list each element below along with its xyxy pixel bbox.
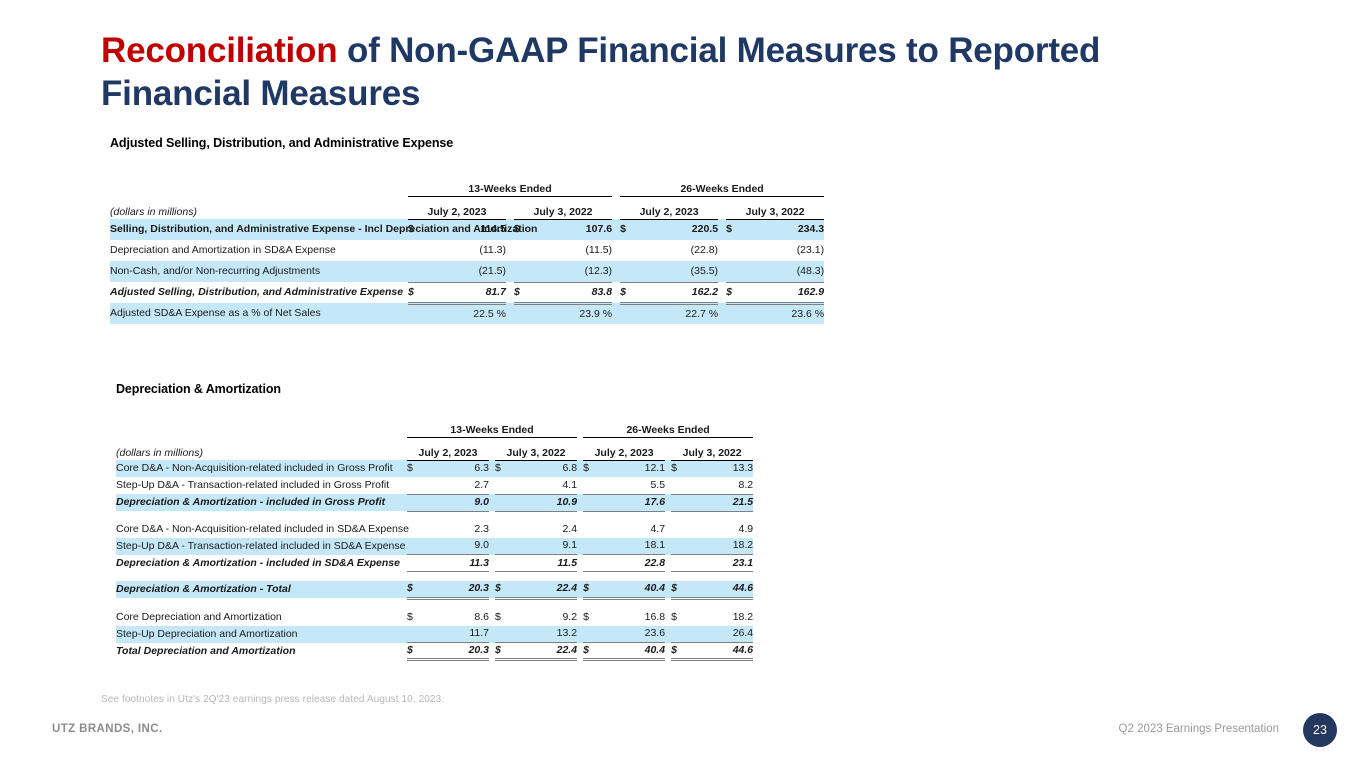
value-cell: 22.8	[597, 555, 665, 572]
column-header: July 3, 2022	[495, 447, 577, 460]
value-cell: 8.6	[421, 609, 489, 626]
units-label: (dollars in millions)	[110, 206, 400, 219]
currency-symbol: $	[671, 609, 685, 626]
value-cell: 9.0	[421, 538, 489, 555]
currency-symbol: $	[495, 609, 509, 626]
footnote: See footnotes in Utz's 2Q'23 earnings pr…	[101, 694, 444, 705]
value-cell: 107.6	[530, 219, 612, 240]
currency-symbol	[620, 261, 636, 282]
currency-symbol	[583, 626, 597, 643]
value-cell: 2.4	[509, 521, 577, 538]
value-cell: 22.5 %	[424, 303, 506, 324]
row-label: Adjusted SD&A Expense as a % of Net Sale…	[110, 303, 400, 324]
value-cell: (21.5)	[424, 261, 506, 282]
table-row: Step-Up D&A - Transaction-related includ…	[116, 538, 753, 555]
currency-symbol	[671, 538, 685, 555]
value-cell: 18.2	[685, 538, 753, 555]
row-label: Adjusted Selling, Distribution, and Admi…	[110, 282, 400, 303]
value-cell: 4.9	[685, 521, 753, 538]
value-cell: 23.9 %	[530, 303, 612, 324]
value-cell: 20.3	[421, 581, 489, 598]
value-cell: 4.1	[509, 477, 577, 494]
page-number-badge: 23	[1303, 713, 1337, 747]
value-cell: 9.2	[509, 609, 577, 626]
row-label: Core D&A - Non-Acquisition-related inclu…	[116, 521, 401, 538]
currency-symbol	[495, 477, 509, 494]
value-cell: 8.2	[685, 477, 753, 494]
currency-symbol: $	[583, 643, 597, 660]
currency-symbol	[583, 477, 597, 494]
slide: Reconciliation of Non-GAAP Financial Mea…	[0, 0, 1365, 768]
value-cell: (11.3)	[424, 240, 506, 261]
value-cell: 44.6	[685, 581, 753, 598]
value-cell: 23.6 %	[742, 303, 824, 324]
currency-symbol	[407, 477, 421, 494]
value-cell: 83.8	[530, 282, 612, 303]
currency-symbol	[514, 240, 530, 261]
value-cell: 234.3	[742, 219, 824, 240]
currency-symbol: $	[583, 609, 597, 626]
column-header: July 2, 2023	[407, 447, 489, 460]
currency-symbol: $	[495, 581, 509, 598]
currency-symbol: $	[671, 460, 685, 477]
table-row: Step-Up D&A - Transaction-related includ…	[116, 477, 753, 494]
value-cell: 21.5	[685, 494, 753, 511]
value-cell: 6.8	[509, 460, 577, 477]
depreciation-amortization-table: 13-Weeks Ended26-Weeks Ended(dollars in …	[116, 424, 753, 661]
row-label: Selling, Distribution, and Administrativ…	[110, 219, 400, 240]
currency-symbol	[671, 626, 685, 643]
value-cell: 11.5	[509, 555, 577, 572]
row-label: Core D&A - Non-Acquisition-related inclu…	[116, 460, 401, 477]
section2-caption: Depreciation & Amortization	[116, 382, 281, 396]
value-cell: 5.5	[597, 477, 665, 494]
row-label: Step-Up D&A - Transaction-related includ…	[116, 477, 401, 494]
row-label: Core Depreciation and Amortization	[116, 609, 401, 626]
column-header: July 2, 2023	[583, 447, 665, 460]
currency-symbol: $	[583, 460, 597, 477]
page-title-highlight: Reconciliation	[101, 31, 337, 70]
currency-symbol: $	[726, 219, 742, 240]
value-cell: 2.7	[421, 477, 489, 494]
table-row: Core D&A - Non-Acquisition-related inclu…	[116, 521, 753, 538]
currency-symbol	[514, 261, 530, 282]
group-header-26-weeks: 26-Weeks Ended	[583, 424, 753, 437]
table-row: Depreciation & Amortization - included i…	[116, 555, 753, 572]
table-row: Selling, Distribution, and Administrativ…	[110, 219, 824, 240]
group-header-13-weeks: 13-Weeks Ended	[408, 183, 612, 196]
column-header: July 3, 2022	[726, 206, 824, 219]
row-label: Depreciation & Amortization - included i…	[116, 494, 401, 511]
value-cell: 22.4	[509, 581, 577, 598]
currency-symbol	[408, 261, 424, 282]
currency-symbol	[495, 494, 509, 511]
value-cell: 10.9	[509, 494, 577, 511]
currency-symbol	[495, 626, 509, 643]
currency-symbol	[495, 521, 509, 538]
value-cell: 11.7	[421, 626, 489, 643]
value-cell: 9.1	[509, 538, 577, 555]
currency-symbol	[495, 538, 509, 555]
currency-symbol	[408, 303, 424, 324]
table-column-header-row: (dollars in millions)July 2, 2023July 3,…	[110, 206, 824, 219]
table-row: Depreciation & Amortization - included i…	[116, 494, 753, 511]
row-label: Total Depreciation and Amortization	[116, 643, 401, 660]
footer-deck-name: Q2 2023 Earnings Presentation	[1119, 723, 1279, 735]
page-title: Reconciliation of Non-GAAP Financial Mea…	[101, 30, 1101, 115]
currency-symbol: $	[671, 581, 685, 598]
currency-symbol	[408, 240, 424, 261]
value-cell: 22.4	[509, 643, 577, 660]
value-cell: 17.6	[597, 494, 665, 511]
value-cell: 18.2	[685, 609, 753, 626]
currency-symbol	[583, 555, 597, 572]
currency-symbol	[514, 303, 530, 324]
currency-symbol	[407, 626, 421, 643]
value-cell: 40.4	[597, 581, 665, 598]
table-row: Non-Cash, and/or Non-recurring Adjustmen…	[110, 261, 824, 282]
value-cell: (11.5)	[530, 240, 612, 261]
currency-symbol	[671, 521, 685, 538]
currency-symbol	[726, 240, 742, 261]
table-group-header-row: 13-Weeks Ended26-Weeks Ended	[116, 424, 753, 437]
column-header: July 2, 2023	[408, 206, 506, 219]
currency-symbol: $	[407, 643, 421, 660]
currency-symbol	[671, 477, 685, 494]
table-row: Depreciation and Amortization in SD&A Ex…	[110, 240, 824, 261]
currency-symbol: $	[671, 643, 685, 660]
table-row: Depreciation & Amortization - Total$20.3…	[116, 581, 753, 598]
currency-symbol: $	[583, 581, 597, 598]
column-header: July 2, 2023	[620, 206, 718, 219]
currency-symbol	[583, 538, 597, 555]
currency-symbol	[407, 555, 421, 572]
column-header: July 3, 2022	[514, 206, 612, 219]
row-label: Depreciation and Amortization in SD&A Ex…	[110, 240, 400, 261]
table-group-header-row: 13-Weeks Ended26-Weeks Ended	[110, 183, 824, 196]
currency-symbol	[671, 494, 685, 511]
row-label: Step-Up Depreciation and Amortization	[116, 626, 401, 643]
units-label: (dollars in millions)	[116, 447, 401, 460]
currency-symbol: $	[408, 282, 424, 303]
currency-symbol: $	[407, 609, 421, 626]
currency-symbol	[407, 521, 421, 538]
table-row: Total Depreciation and Amortization$20.3…	[116, 643, 753, 660]
value-cell: 4.7	[597, 521, 665, 538]
value-cell: 81.7	[424, 282, 506, 303]
currency-symbol: $	[514, 282, 530, 303]
value-cell: 13.3	[685, 460, 753, 477]
value-cell: 220.5	[636, 219, 718, 240]
value-cell: 9.0	[421, 494, 489, 511]
group-header-26-weeks: 26-Weeks Ended	[620, 183, 824, 196]
footer-company: UTZ BRANDS, INC.	[52, 723, 163, 735]
table-row: Core Depreciation and Amortization$8.6$9…	[116, 609, 753, 626]
value-cell: 162.9	[742, 282, 824, 303]
row-label: Step-Up D&A - Transaction-related includ…	[116, 538, 401, 555]
currency-symbol	[583, 521, 597, 538]
value-cell: 2.3	[421, 521, 489, 538]
row-label: Non-Cash, and/or Non-recurring Adjustmen…	[110, 261, 400, 282]
currency-symbol: $	[407, 460, 421, 477]
group-header-13-weeks: 13-Weeks Ended	[407, 424, 577, 437]
currency-symbol: $	[407, 581, 421, 598]
currency-symbol: $	[495, 643, 509, 660]
currency-symbol	[671, 555, 685, 572]
currency-symbol	[495, 555, 509, 572]
value-cell: 40.4	[597, 643, 665, 660]
value-cell: (48.3)	[742, 261, 824, 282]
value-cell: 23.1	[685, 555, 753, 572]
table-row: Core D&A - Non-Acquisition-related inclu…	[116, 460, 753, 477]
row-label: Depreciation & Amortization - Total	[116, 581, 401, 598]
currency-symbol	[620, 240, 636, 261]
currency-symbol	[726, 261, 742, 282]
value-cell: 23.6	[597, 626, 665, 643]
adjusted-sda-table: 13-Weeks Ended26-Weeks Ended(dollars in …	[110, 183, 824, 324]
currency-symbol	[407, 494, 421, 511]
currency-symbol	[620, 303, 636, 324]
value-cell: 18.1	[597, 538, 665, 555]
currency-symbol: $	[495, 460, 509, 477]
value-cell: 26.4	[685, 626, 753, 643]
table-row: Step-Up Depreciation and Amortization11.…	[116, 626, 753, 643]
table-row: Adjusted Selling, Distribution, and Admi…	[110, 282, 824, 303]
row-label: Depreciation & Amortization - included i…	[116, 555, 401, 572]
value-cell: 6.3	[421, 460, 489, 477]
value-cell: 11.3	[421, 555, 489, 572]
column-header: July 3, 2022	[671, 447, 753, 460]
table-column-header-row: (dollars in millions)July 2, 2023July 3,…	[116, 447, 753, 460]
value-cell: 16.8	[597, 609, 665, 626]
currency-symbol: $	[620, 282, 636, 303]
currency-symbol: $	[620, 219, 636, 240]
currency-symbol	[407, 538, 421, 555]
value-cell: 162.2	[636, 282, 718, 303]
value-cell: 13.2	[509, 626, 577, 643]
table-row: Adjusted SD&A Expense as a % of Net Sale…	[110, 303, 824, 324]
value-cell: 22.7 %	[636, 303, 718, 324]
value-cell: (35.5)	[636, 261, 718, 282]
value-cell: (22.8)	[636, 240, 718, 261]
value-cell: 12.1	[597, 460, 665, 477]
value-cell: (23.1)	[742, 240, 824, 261]
currency-symbol	[583, 494, 597, 511]
value-cell: (12.3)	[530, 261, 612, 282]
currency-symbol: $	[726, 282, 742, 303]
section1-caption: Adjusted Selling, Distribution, and Admi…	[110, 136, 453, 150]
value-cell: 44.6	[685, 643, 753, 660]
currency-symbol	[726, 303, 742, 324]
value-cell: 20.3	[421, 643, 489, 660]
